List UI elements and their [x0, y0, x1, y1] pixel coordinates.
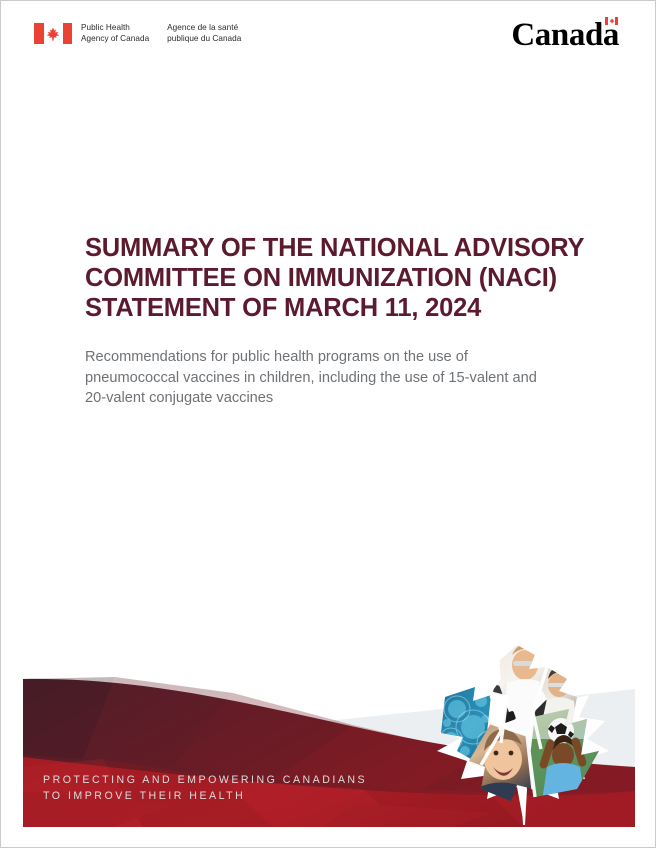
signature-english-line2: Agency of Canada [81, 34, 149, 45]
wordmark-flag-bar-right [615, 17, 618, 25]
signature-english: Public Health Agency of Canada [81, 23, 149, 44]
page-title: SUMMARY OF THE NATIONAL ADVISORY COMMITT… [85, 233, 585, 323]
maple-leaf-glyph [46, 26, 61, 41]
maple-leaf-photo-collage [429, 639, 619, 829]
signature-english-line1: Public Health [81, 23, 149, 34]
page-subtitle: Recommendations for public health progra… [85, 323, 547, 409]
title-block: SUMMARY OF THE NATIONAL ADVISORY COMMITT… [85, 233, 585, 409]
signature-french-line2: publique du Canada [167, 34, 241, 45]
document-cover-page: Public Health Agency of Canada Agence de… [0, 0, 656, 848]
wordmark-flag-icon [605, 17, 618, 25]
flag-bar-right [63, 23, 73, 44]
banner-tagline: PROTECTING AND EMPOWERING CANADIANS TO I… [43, 773, 367, 804]
phac-signature: Public Health Agency of Canada Agence de… [34, 23, 241, 44]
canada-flag-icon [34, 23, 72, 44]
wordmark-maple-leaf-glyph [609, 18, 615, 24]
signature-french-line1: Agence de la santé [167, 23, 241, 34]
canada-wordmark: Canada [511, 19, 619, 52]
signature-french: Agence de la santé publique du Canada [167, 23, 241, 44]
collage-graphic [429, 639, 619, 829]
flag-bar-left [34, 23, 44, 44]
signature-wordblock: Public Health Agency of Canada Agence de… [81, 23, 241, 44]
canada-wordmark-text: Canada [511, 17, 619, 53]
